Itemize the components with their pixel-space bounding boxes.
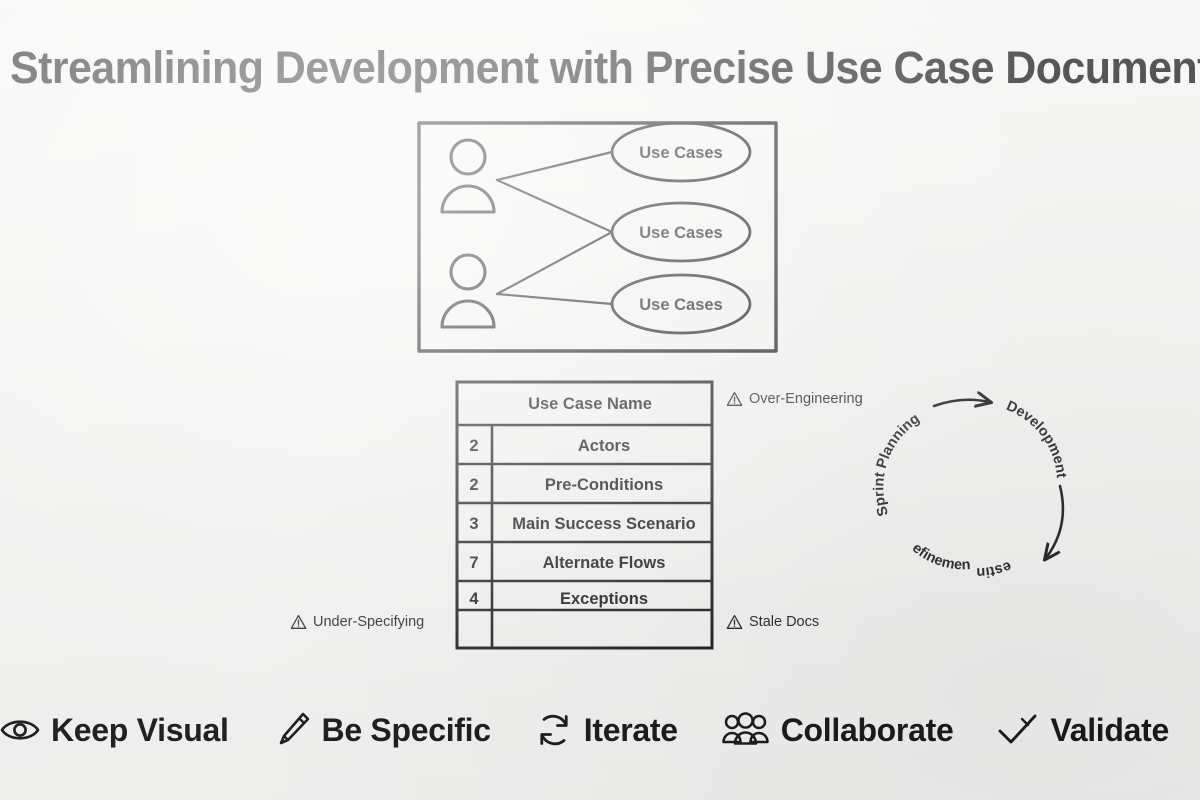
cycle-arrow-planning-to-development <box>934 400 989 406</box>
principle-measure[interactable]: Measure <box>1191 711 1200 749</box>
table-row-count-4: 4 <box>469 590 479 608</box>
warning-under-specifying: Under-Specifying <box>290 614 424 630</box>
actor-icon-1 <box>442 140 494 212</box>
page-title: Streamlining Development with Precise Us… <box>10 40 1151 96</box>
check-icon <box>997 712 1039 748</box>
table-header-label: Use Case Name <box>528 395 652 413</box>
principle-label: Iterate <box>584 712 678 748</box>
warning-triangle-icon <box>726 614 743 630</box>
association-line-3 <box>497 232 612 294</box>
warning-label: Under-Specifying <box>313 614 424 630</box>
table-row-label-4: Exceptions <box>560 590 648 608</box>
table-row-count-1: 2 <box>469 476 478 494</box>
principle-iterate[interactable]: Iterate <box>513 711 700 749</box>
association-line-2 <box>497 180 612 232</box>
use-case-label-3: Use Cases <box>639 296 722 314</box>
principle-be-specific[interactable]: Be Specific <box>251 710 513 750</box>
table-row-label-3: Alternate Flows <box>543 554 666 572</box>
association-line-1 <box>497 152 612 180</box>
table-row-label-1: Pre-Conditions <box>545 476 663 494</box>
principle-label: Keep Visual <box>51 712 229 748</box>
principle-label: Validate <box>1050 712 1169 748</box>
sprint-cycle-diagram: Sprint Planning Development Testing Refi… <box>862 378 1102 590</box>
cycle-stage-label-sprint-planning: Sprint Planning <box>871 411 922 518</box>
principle-collaborate[interactable]: Collaborate <box>700 712 976 748</box>
table-row-count-2: 3 <box>469 515 478 533</box>
cycle-arrow-development-to-testing <box>1046 486 1063 558</box>
principles-footer: Keep Visual Be Specific Iterate <box>0 694 1200 766</box>
people-icon <box>722 712 770 748</box>
refresh-icon <box>535 711 573 749</box>
warning-label: Over-Engineering <box>749 391 863 407</box>
table-row-count-0: 2 <box>469 437 478 455</box>
use-case-label-1: Use Cases <box>639 144 722 162</box>
use-case-diagram: Use Cases Use Cases Use Cases <box>410 112 790 360</box>
eye-icon <box>0 713 40 747</box>
use-case-spec-table: Use Case Name 2 Actors 2 Pre-Conditions … <box>452 378 720 653</box>
table-row-label-2: Main Success Scenario <box>512 515 695 533</box>
principle-validate[interactable]: Validate <box>975 712 1191 748</box>
actor-icon-2 <box>442 255 494 327</box>
table-row-count-3: 7 <box>469 554 478 572</box>
association-line-4 <box>497 294 612 304</box>
warning-triangle-icon <box>726 391 743 407</box>
table-row-label-0: Actors <box>578 437 630 455</box>
principle-label: Collaborate <box>781 712 954 748</box>
warning-label: Stale Docs <box>749 614 819 630</box>
warning-stale-docs: Stale Docs <box>726 614 819 630</box>
pen-icon <box>273 710 311 750</box>
cycle-stage-label-development: Development <box>1004 398 1069 479</box>
warning-triangle-icon <box>290 614 307 630</box>
use-case-label-2: Use Cases <box>639 224 722 242</box>
principle-label: Be Specific <box>322 712 491 748</box>
principle-keep-visual[interactable]: Keep Visual <box>0 712 251 748</box>
warning-over-engineering: Over-Engineering <box>726 391 863 407</box>
